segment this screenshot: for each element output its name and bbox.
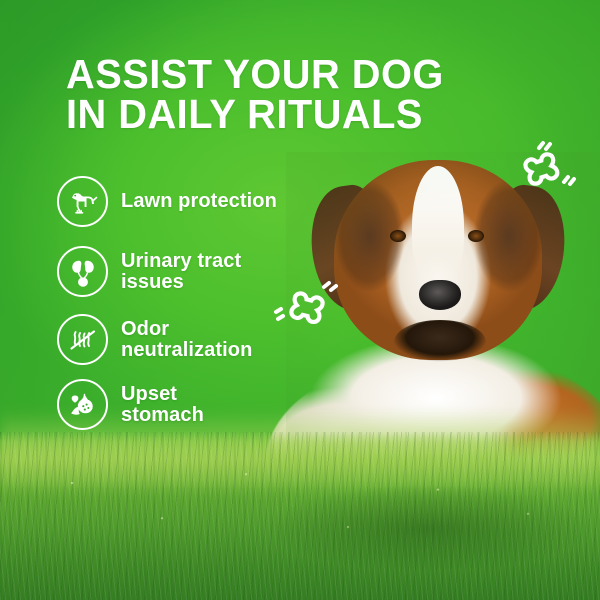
- dog-right-eye: [468, 230, 484, 242]
- benefit-item-upset-stomach: Upset stomach: [57, 379, 204, 430]
- dog-urinating-on-grass-icon: [57, 176, 108, 227]
- benefit-label-line-1: Upset: [121, 384, 204, 405]
- dog-left-eye: [390, 230, 406, 242]
- benefit-label: Urinary tract issues: [121, 251, 241, 293]
- benefit-label-line-2: issues: [121, 272, 241, 293]
- page-title: ASSIST YOUR DOG IN DAILY RITUALS: [66, 54, 551, 134]
- headline-line-1: ASSIST YOUR DOG: [66, 54, 551, 94]
- dog-face-blaze: [412, 166, 464, 286]
- benefit-label-line-2: neutralization: [121, 340, 252, 361]
- benefit-label: Lawn protection: [121, 191, 277, 212]
- benefit-item-odor-neutralization: Odor neutralization: [57, 314, 252, 365]
- benefit-label: Upset stomach: [121, 384, 204, 426]
- promo-poster: ASSIST YOUR DOG IN DAILY RITUALS Lawn pr…: [0, 0, 600, 600]
- benefit-label: Odor neutralization: [121, 319, 252, 361]
- bone-sparkle-middle-icon: [272, 278, 338, 334]
- benefit-item-lawn-protection: Lawn protection: [57, 176, 277, 227]
- stomach-heart-icon: [57, 379, 108, 430]
- dog-jowls: [394, 320, 486, 364]
- headline-line-2: IN DAILY RITUALS: [66, 94, 551, 134]
- grass-dew-sparkles: [0, 450, 600, 560]
- no-odor-waves-icon: [57, 314, 108, 365]
- benefit-label-line-1: Odor: [121, 319, 252, 340]
- benefit-item-urinary-tract: Urinary tract issues: [57, 246, 241, 297]
- benefit-label-line-1: Lawn protection: [121, 191, 277, 212]
- dog-nose: [419, 280, 461, 310]
- kidneys-bladder-icon: [57, 246, 108, 297]
- benefit-label-line-1: Urinary tract: [121, 251, 241, 272]
- benefit-label-line-2: stomach: [121, 405, 204, 426]
- bone-sparkle-top-right-icon: [512, 138, 578, 200]
